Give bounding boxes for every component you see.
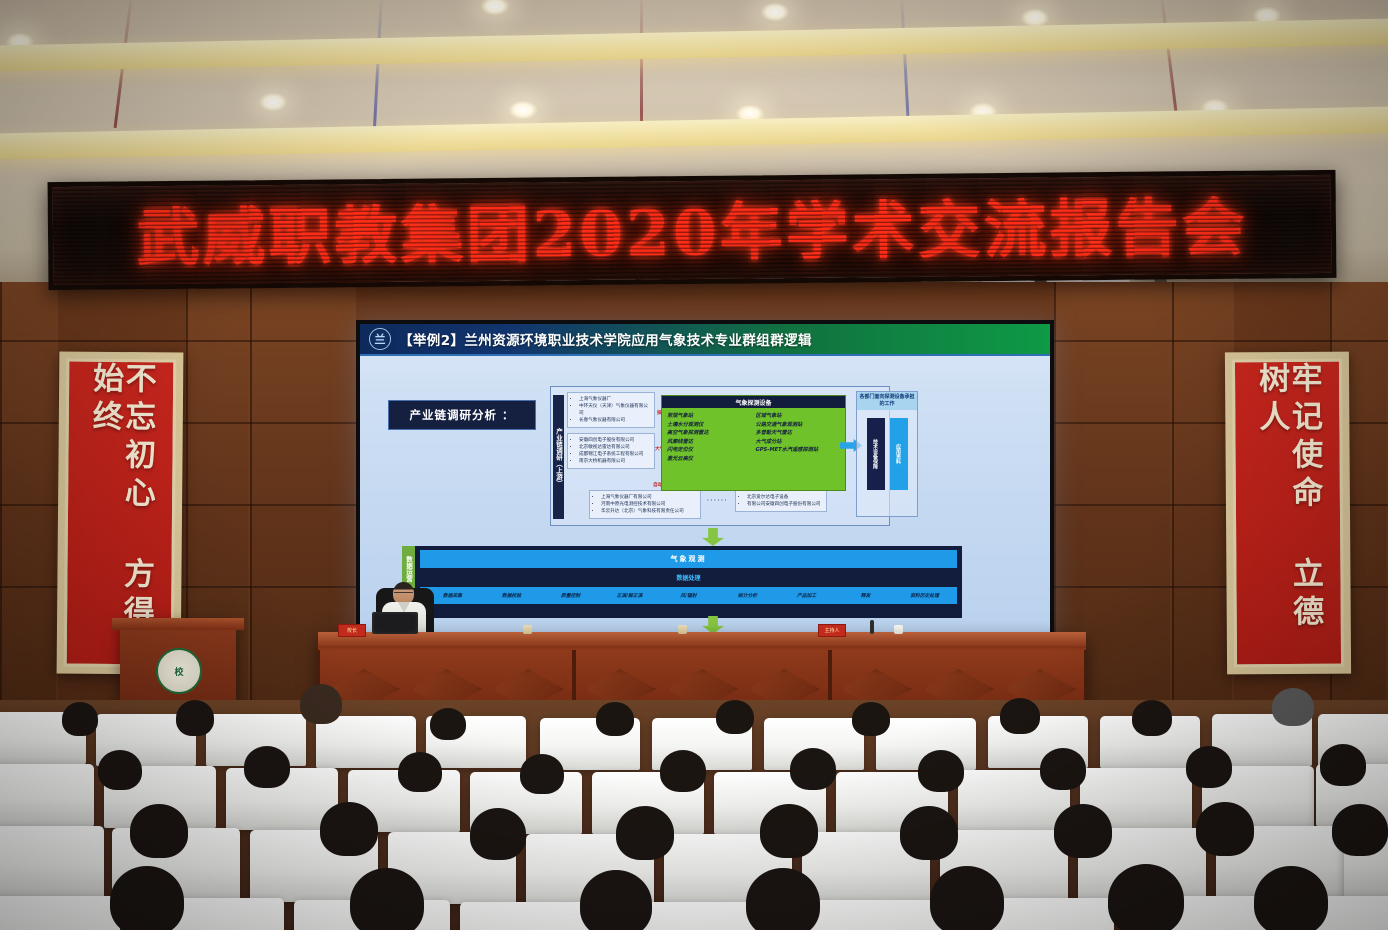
audience-member bbox=[1040, 748, 1086, 790]
audience-area bbox=[0, 700, 1388, 930]
tea-cup bbox=[523, 625, 532, 634]
wall-panel bbox=[0, 282, 58, 712]
ceiling-downlight bbox=[760, 2, 790, 22]
slide-header: 兰 【举例2】兰州资源环境职业技术学院应用气象技术专业群组群逻辑 bbox=[360, 324, 1050, 356]
wall-banner-right-text: 牢记使命 立德树人 bbox=[1254, 362, 1321, 664]
wall-banner-right: 牢记使命 立德树人 bbox=[1225, 352, 1351, 675]
audience-member bbox=[790, 748, 836, 790]
upstream-block: 产业链调研（上游） 上海气象仪器厂 中环天仪（天津）气象仪器有限公司 长春气象仪… bbox=[550, 386, 890, 526]
chip-item: 风/辐射 bbox=[660, 592, 717, 599]
audience-member bbox=[176, 700, 214, 736]
ceiling-downlight bbox=[480, 0, 510, 16]
chair bbox=[0, 896, 120, 930]
ceiling-downlight bbox=[508, 100, 538, 120]
ceiling-downlight bbox=[258, 92, 288, 112]
audience-member bbox=[918, 750, 964, 792]
audience-member bbox=[110, 866, 184, 930]
audience-member bbox=[1054, 804, 1112, 858]
audience-member bbox=[244, 746, 290, 788]
cove-light-strip bbox=[0, 99, 1388, 168]
audience-member bbox=[98, 750, 142, 790]
wall-panel bbox=[1172, 282, 1234, 712]
data-processing-chips: 数据采集 数据校验 质量控制 正演/解正演 风/辐射 统计分析 产品加工 释发 … bbox=[420, 587, 957, 604]
led-banner: 武威职教集团2020年学术交流报告会 bbox=[48, 170, 1337, 290]
audience-member bbox=[350, 868, 424, 930]
school-logo-icon: 兰 bbox=[369, 328, 391, 350]
audience-member bbox=[300, 684, 342, 724]
department-bar-tech: 技术设备保障 bbox=[867, 418, 885, 490]
vendor-list-c: 上海气象仪器厂有限公司 河南中原光电测控技术有限公司 华云升达（北京）气象科技有… bbox=[589, 490, 701, 519]
audience-member bbox=[1000, 698, 1040, 734]
audience-member bbox=[760, 804, 818, 858]
presenter-laptop bbox=[372, 612, 418, 634]
department-bar-data: 应用资料 bbox=[890, 418, 908, 490]
ceiling-seam bbox=[640, 0, 643, 129]
audience-member bbox=[596, 702, 634, 736]
microphone-icon bbox=[870, 620, 874, 634]
glasses-icon bbox=[394, 592, 413, 596]
ceiling-seam bbox=[373, 0, 383, 129]
ceiling-seam bbox=[900, 0, 910, 129]
audience-member bbox=[746, 868, 820, 930]
audience-member bbox=[900, 806, 958, 860]
ceiling-seam bbox=[1160, 0, 1179, 128]
audience-member bbox=[62, 702, 98, 736]
list-ellipsis: · · · · · · bbox=[707, 499, 726, 504]
audience-member bbox=[616, 806, 674, 860]
podium-top bbox=[112, 618, 244, 630]
slide-title: 【举例2】兰州资源环境职业技术学院应用气象技术专业群组群逻辑 bbox=[399, 329, 812, 349]
weather-equipment-panel: 气象探测设备 常规气象站 土壤水分观测仪 高空气象探测雷达 风廓线雷达 闪电定位… bbox=[661, 395, 846, 491]
audience-member bbox=[1254, 866, 1328, 930]
audience-member bbox=[852, 702, 890, 736]
audience-member bbox=[1108, 864, 1184, 930]
wall-seam bbox=[0, 340, 360, 342]
vendor-list-a: 上海气象仪器厂 中环天仪（天津）气象仪器有限公司 长春气象仪器有限公司 bbox=[567, 392, 655, 428]
nameplate: 主持人 bbox=[818, 624, 846, 637]
vendor-list-d: 北京爱尔达电子设备 有限公司安徽四创电子股份有限公司 bbox=[735, 490, 827, 512]
chip-item: 统计分析 bbox=[719, 592, 776, 599]
audience-member bbox=[716, 700, 754, 734]
tea-cup bbox=[678, 625, 687, 634]
audience-member bbox=[470, 808, 526, 860]
weather-observation-bar: 气象观测 bbox=[420, 550, 957, 568]
audience-member bbox=[430, 708, 466, 740]
chip-item: 产品加工 bbox=[778, 592, 835, 599]
conference-hall-photo: 武威职教集团2020年学术交流报告会 不忘初心 方得始终 牢记使命 立德树人 兰… bbox=[0, 0, 1388, 930]
slide-body: 产业链调研分析 ： 产业链调研（上游） 上海气象仪器厂 中环天仪（天津）气象仪器… bbox=[360, 358, 1050, 638]
school-emblem-icon: 校 bbox=[156, 648, 202, 694]
cove-light-strip bbox=[0, 11, 1388, 80]
department-work-column: 各部门面向探测设备承担的工作 技术设备保障 应用资料 bbox=[856, 391, 918, 517]
midstream-block: 数据运营（中游） 气象观测 数据处理 数据采集 数据校验 质量控制 正演/解正演… bbox=[402, 546, 962, 618]
audience-member bbox=[130, 804, 188, 858]
department-work-title: 各部门面向探测设备承担的工作 bbox=[857, 392, 917, 410]
audience-member bbox=[1332, 804, 1388, 856]
audience-member bbox=[520, 754, 564, 794]
audience-member bbox=[320, 802, 378, 856]
audience-member bbox=[398, 752, 442, 792]
audience-member bbox=[1132, 700, 1172, 736]
wall-seam bbox=[1054, 340, 1388, 342]
paper-cup bbox=[894, 625, 903, 634]
chip-item: 质量控制 bbox=[542, 592, 599, 599]
audience-member bbox=[580, 870, 652, 930]
head-table-top bbox=[318, 632, 1086, 646]
weather-equipment-col1: 常规气象站 土壤水分观测仪 高空气象探测雷达 风廓线雷达 闪电定位仪 激光云高仪 bbox=[667, 412, 752, 463]
upstream-vertical-label: 产业链调研（上游） bbox=[553, 395, 564, 519]
chip-item: 释发 bbox=[837, 592, 894, 599]
slide-tag-box: 产业链调研分析 ： bbox=[388, 400, 536, 430]
audience-member bbox=[1196, 802, 1254, 856]
led-banner-text: 武威职教集团2020年学术交流报告会 bbox=[53, 177, 1332, 280]
data-processing-title: 数据处理 bbox=[420, 571, 957, 584]
vendor-list-b: 安徽四创电子股份有限公司 北京敏视达雷达有限公司 成都锦江电子系统工程有限公司 … bbox=[567, 433, 655, 469]
chair bbox=[0, 826, 104, 898]
audience-member bbox=[930, 866, 1004, 930]
chip-item: 数据校验 bbox=[483, 592, 540, 599]
flow-arrow-down-1-icon bbox=[702, 528, 724, 546]
chip-item: 资料历史处理 bbox=[896, 592, 953, 599]
chip-item: 正演/解正演 bbox=[601, 592, 658, 599]
nameplate: 校长 bbox=[338, 624, 366, 637]
chair bbox=[0, 764, 94, 826]
audience-member bbox=[1272, 688, 1314, 726]
weather-equipment-title: 气象探测设备 bbox=[662, 396, 845, 408]
projection-screen: 兰 【举例2】兰州资源环境职业技术学院应用气象技术专业群组群逻辑 产业链调研分析… bbox=[356, 320, 1054, 642]
audience-member bbox=[1186, 746, 1232, 788]
audience-member bbox=[1320, 744, 1366, 786]
audience-member bbox=[660, 750, 706, 792]
weather-equipment-col2: 区域气象站 公路交通气象观测站 多普勒天气雷达 大气成分站 GPS-MET水汽遥… bbox=[756, 412, 841, 463]
